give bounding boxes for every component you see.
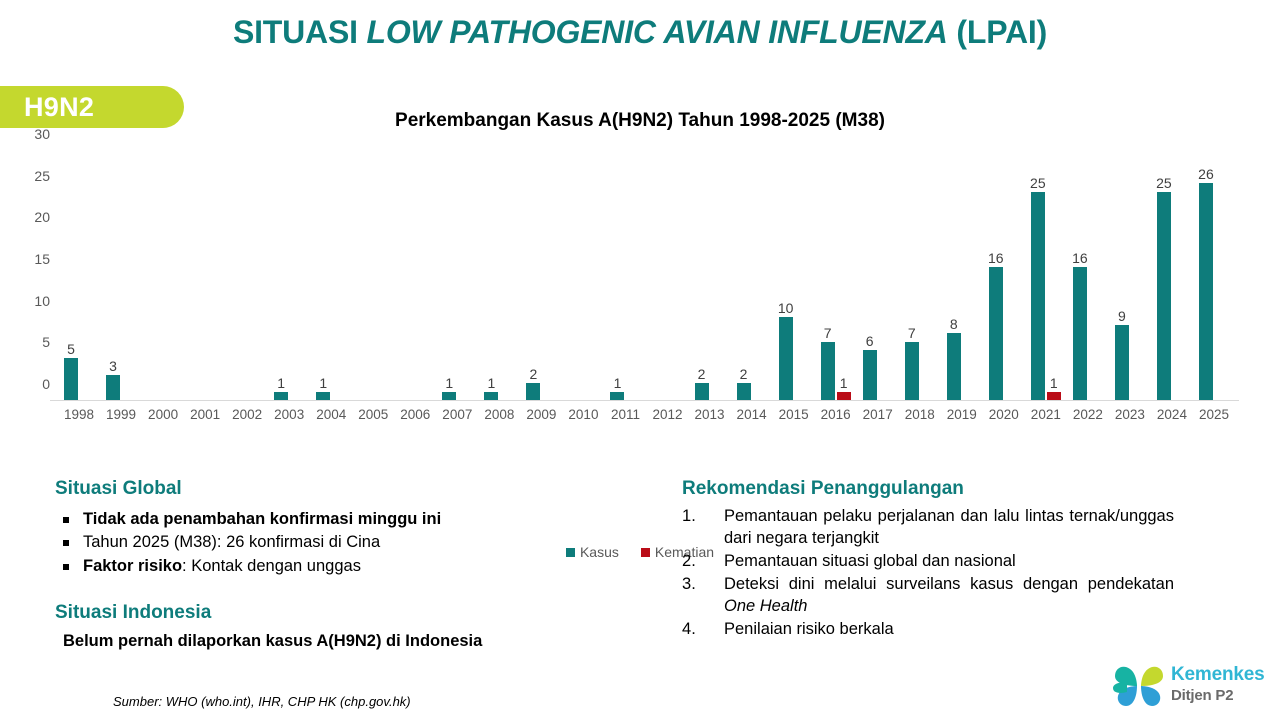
chart-bar-value-label: 26 — [1198, 167, 1214, 181]
chart-category-group: 12004 — [310, 150, 352, 400]
chart-category-group: 22013 — [689, 150, 731, 400]
chart-y-tick: 5 — [42, 334, 50, 350]
bullet-bold-text: Tidak ada penambahan konfirmasi minggu i… — [83, 510, 441, 528]
chart-bar-value-label: 16 — [1072, 251, 1088, 265]
chart-bar-value-label: 16 — [988, 251, 1004, 265]
chart-x-tick: 2004 — [316, 407, 346, 422]
chart-category-group: 2002 — [226, 150, 268, 400]
indonesia-situation-text: Belum pernah dilaporkan kasus A(H9N2) di… — [63, 632, 675, 651]
chart-category-group: 22014 — [731, 150, 773, 400]
global-situation-list: Tidak ada penambahan konfirmasi minggu i… — [55, 508, 655, 578]
chart-category-group: 2001 — [184, 150, 226, 400]
recommendation-italic-text: One Health — [724, 597, 807, 615]
chart-y-tick: 0 — [42, 376, 50, 392]
chart-bar-value-label: 6 — [866, 334, 874, 348]
chart-bar-kasus[interactable]: 1 — [442, 392, 456, 400]
chart-title: Perkembangan Kasus A(H9N2) Tahun 1998-20… — [0, 110, 1280, 132]
chart-category-group: 62017 — [857, 150, 899, 400]
chart-bar-kasus[interactable]: 16 — [1073, 267, 1087, 400]
chart-bar-kasus[interactable]: 5 — [64, 358, 78, 400]
chart-bar-value-label: 1 — [840, 376, 848, 390]
chart-bar-value-label: 5 — [67, 342, 75, 356]
chart-x-tick: 2008 — [484, 407, 514, 422]
chart-bar-kasus[interactable]: 1 — [484, 392, 498, 400]
chart-bar-value-label: 9 — [1118, 309, 1126, 323]
chart-category-group: 92023 — [1109, 150, 1151, 400]
chart-category-group: 2006 — [394, 150, 436, 400]
chart-bar-value-label: 8 — [950, 317, 958, 331]
chart-x-tick: 2014 — [737, 407, 767, 422]
chart-plot-area: 051015202530 519983199920002001200212003… — [58, 150, 1235, 400]
chart-x-tick: 2000 — [148, 407, 178, 422]
global-situation-heading: Situasi Global — [55, 478, 655, 500]
chart-y-tick: 15 — [34, 251, 50, 267]
chart-category-group: 2005 — [352, 150, 394, 400]
global-situation-bullet: Tahun 2025 (M38): 26 konfirmasi di Cina — [55, 531, 655, 554]
bullet-bold-text: Faktor risiko — [83, 557, 182, 575]
chart-x-tick: 2023 — [1115, 407, 1145, 422]
recommendation-text: Pemantauan situasi global dan nasional — [724, 552, 1016, 570]
chart-x-tick: 2001 — [190, 407, 220, 422]
chart-category-group: 712016 — [815, 150, 857, 400]
chart-category-group: 2512021 — [1025, 150, 1067, 400]
chart-bar-kasus[interactable]: 25 — [1157, 192, 1171, 400]
chart-y-tick: 30 — [34, 126, 50, 142]
chart-category-group: 2010 — [562, 150, 604, 400]
chart-bar-kematian[interactable]: 1 — [1047, 392, 1061, 400]
chart-x-tick: 2017 — [863, 407, 893, 422]
chart-x-tick: 2013 — [695, 407, 725, 422]
chart-x-tick: 2010 — [568, 407, 598, 422]
chart-y-tick: 25 — [34, 168, 50, 184]
page-title-italic: LOW PATHOGENIC AVIAN INFLUENZA — [366, 14, 947, 50]
chart-bar-kasus[interactable]: 6 — [863, 350, 877, 400]
chart-x-tick: 2021 — [1031, 407, 1061, 422]
chart-bar-value-label: 1 — [614, 376, 622, 390]
bullet-text: : Kontak dengan unggas — [182, 557, 361, 575]
recommendation-text: Pemantauan pelaku perjalanan dan lalu li… — [724, 507, 1174, 547]
chart-x-tick: 2006 — [400, 407, 430, 422]
recommendation-item: Pemantauan pelaku perjalanan dan lalu li… — [682, 506, 1174, 550]
chart-x-tick: 2009 — [526, 407, 556, 422]
global-situation-bullet: Tidak ada penambahan konfirmasi minggu i… — [55, 508, 655, 531]
chart-container: Perkembangan Kasus A(H9N2) Tahun 1998-20… — [0, 108, 1280, 460]
chart-bar-value-label: 25 — [1156, 176, 1172, 190]
chart-category-group: 12003 — [268, 150, 310, 400]
chart-y-tick: 10 — [34, 293, 50, 309]
chart-bar-value-label: 25 — [1030, 176, 1046, 190]
chart-bar-kasus[interactable]: 2 — [526, 383, 540, 400]
chart-x-tick: 2005 — [358, 407, 388, 422]
chart-bar-value-label: 1 — [319, 376, 327, 390]
chart-x-tick: 1999 — [106, 407, 136, 422]
recommendation-item: Deteksi dini melalui surveilans kasus de… — [682, 574, 1174, 618]
chart-category-group: 262025 — [1193, 150, 1235, 400]
page-title-part1: SITUASI — [233, 14, 367, 50]
chart-bar-kasus[interactable]: 2 — [695, 383, 709, 400]
chart-category-group: 51998 — [58, 150, 100, 400]
chart-category-group: 162020 — [983, 150, 1025, 400]
chart-category-group: 82019 — [941, 150, 983, 400]
source-note: Sumber: WHO (who.int), IHR, CHP HK (chp.… — [113, 694, 411, 709]
chart-bar-kasus[interactable]: 3 — [106, 375, 120, 400]
kemenkes-logo-word: Kemenkes — [1171, 664, 1264, 686]
chart-bar-value-label: 10 — [778, 301, 794, 315]
recommendation-item: Pemantauan situasi global dan nasional — [682, 551, 1174, 573]
global-situation-section: Situasi Global Tidak ada penambahan konf… — [55, 478, 655, 578]
recommendations-list: Pemantauan pelaku perjalanan dan lalu li… — [682, 506, 1174, 641]
kemenkes-logo: Kemenkes Ditjen P2 — [1113, 661, 1273, 713]
chart-x-tick: 2016 — [821, 407, 851, 422]
chart-bar-kasus[interactable]: 9 — [1115, 325, 1129, 400]
chart-bar-value-label: 2 — [698, 367, 706, 381]
chart-x-tick: 2015 — [779, 407, 809, 422]
chart-bar-kasus[interactable]: 1 — [610, 392, 624, 400]
chart-x-tick: 2020 — [989, 407, 1019, 422]
chart-bar-value-label: 2 — [530, 367, 538, 381]
indonesia-situation-heading: Situasi Indonesia — [55, 602, 675, 624]
chart-x-tick: 1998 — [64, 407, 94, 422]
chart-bar-kasus[interactable]: 7 — [905, 342, 919, 400]
chart-x-tick: 2012 — [652, 407, 682, 422]
chart-category-group: 72018 — [899, 150, 941, 400]
chart-x-tick: 2022 — [1073, 407, 1103, 422]
chart-x-tick: 2011 — [611, 407, 640, 422]
chart-category-group: 12008 — [478, 150, 520, 400]
chart-bar-kasus[interactable]: 2 — [737, 383, 751, 400]
recommendations-section: Rekomendasi Penanggulangan Pemantauan pe… — [682, 478, 1174, 642]
chart-category-group: 2012 — [647, 150, 689, 400]
kemenkes-logo-sub: Ditjen P2 — [1171, 687, 1233, 704]
chart-bar-kasus[interactable]: 1 — [274, 392, 288, 400]
chart-x-tick: 2018 — [905, 407, 935, 422]
recommendation-text: Penilaian risiko berkala — [724, 620, 894, 638]
chart-bar-value-label: 1 — [1050, 376, 1058, 390]
chart-category-group: 12011 — [604, 150, 646, 400]
chart-bar-value-label: 3 — [109, 359, 117, 373]
chart-bar-kasus[interactable]: 7 — [821, 342, 835, 400]
chart-bar-kasus[interactable]: 10 — [779, 317, 793, 400]
chart-bar-kasus[interactable]: 1 — [316, 392, 330, 400]
chart-category-group: 12007 — [436, 150, 478, 400]
chart-bar-kasus[interactable]: 8 — [947, 333, 961, 400]
page-title-part2: (LPAI) — [948, 14, 1047, 50]
chart-category-group: 252024 — [1151, 150, 1193, 400]
chart-y-tick: 20 — [34, 209, 50, 225]
chart-bar-value-label: 7 — [824, 326, 832, 340]
chart-x-tick: 2024 — [1157, 407, 1187, 422]
chart-bar-kasus[interactable]: 25 — [1031, 192, 1045, 400]
chart-category-group: 162022 — [1067, 150, 1109, 400]
chart-bar-value-label: 2 — [740, 367, 748, 381]
chart-x-tick: 2025 — [1199, 407, 1229, 422]
chart-bar-value-label: 1 — [487, 376, 495, 390]
chart-plot-wrap: 051015202530 519983199920002001200212003… — [0, 144, 1280, 416]
chart-x-tick: 2019 — [947, 407, 977, 422]
chart-bar-value-label: 7 — [908, 326, 916, 340]
chart-bar-value-label: 1 — [277, 376, 285, 390]
chart-x-tick: 2007 — [442, 407, 472, 422]
chart-x-tick: 2003 — [274, 407, 304, 422]
recommendation-text: Deteksi dini melalui surveilans kasus de… — [724, 575, 1174, 593]
chart-category-group: 22009 — [520, 150, 562, 400]
recommendations-heading: Rekomendasi Penanggulangan — [682, 478, 1174, 500]
chart-category-group: 31999 — [100, 150, 142, 400]
chart-bar-kasus[interactable]: 26 — [1199, 183, 1213, 400]
indonesia-situation-section: Situasi Indonesia Belum pernah dilaporka… — [55, 602, 675, 651]
kemenkes-flower-icon — [1113, 663, 1165, 709]
chart-x-tick: 2002 — [232, 407, 262, 422]
chart-category-group: 2000 — [142, 150, 184, 400]
page-title: SITUASI LOW PATHOGENIC AVIAN INFLUENZA (… — [0, 14, 1280, 51]
chart-bar-kematian[interactable]: 1 — [837, 392, 851, 400]
recommendation-item: Penilaian risiko berkala — [682, 619, 1174, 641]
chart-axis-line — [50, 400, 1239, 401]
global-situation-bullet: Faktor risiko: Kontak dengan unggas — [55, 555, 655, 578]
chart-bar-value-label: 1 — [445, 376, 453, 390]
chart-category-group: 102015 — [773, 150, 815, 400]
chart-bar-kasus[interactable]: 16 — [989, 267, 1003, 400]
bullet-text: Tahun 2025 (M38): 26 konfirmasi di Cina — [83, 533, 380, 551]
